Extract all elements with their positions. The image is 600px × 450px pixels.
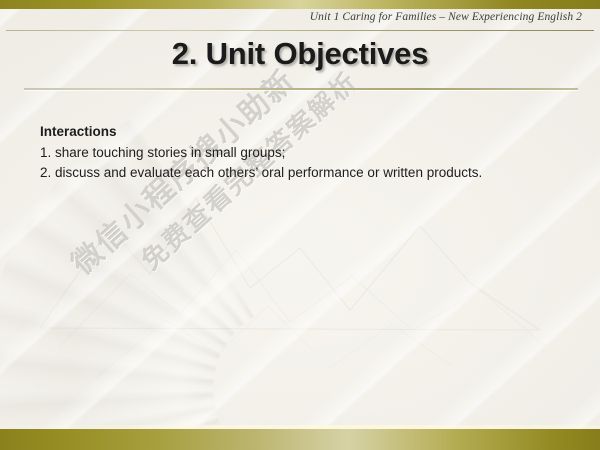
objective-item-2: 2. discuss and evaluate each others’ ora… (40, 163, 576, 183)
bottom-gold-bar (0, 429, 600, 450)
header-divider (6, 30, 594, 31)
slide-header: Unit 1 Caring for Families – New Experie… (0, 9, 600, 31)
top-gold-bar (0, 0, 600, 9)
page-title: 2. Unit Objectives (0, 36, 600, 72)
slide-body: Interactions 1. share touching stories i… (40, 122, 576, 183)
body-heading: Interactions (40, 122, 576, 142)
header-breadcrumb: Unit 1 Caring for Families – New Experie… (310, 11, 582, 23)
title-divider (24, 88, 578, 90)
slide: 微信小程序搜小助新 免费查看完整答案解析 Unit 1 Caring for F… (0, 0, 600, 450)
objective-item-1: 1. share touching stories in small group… (40, 143, 576, 163)
